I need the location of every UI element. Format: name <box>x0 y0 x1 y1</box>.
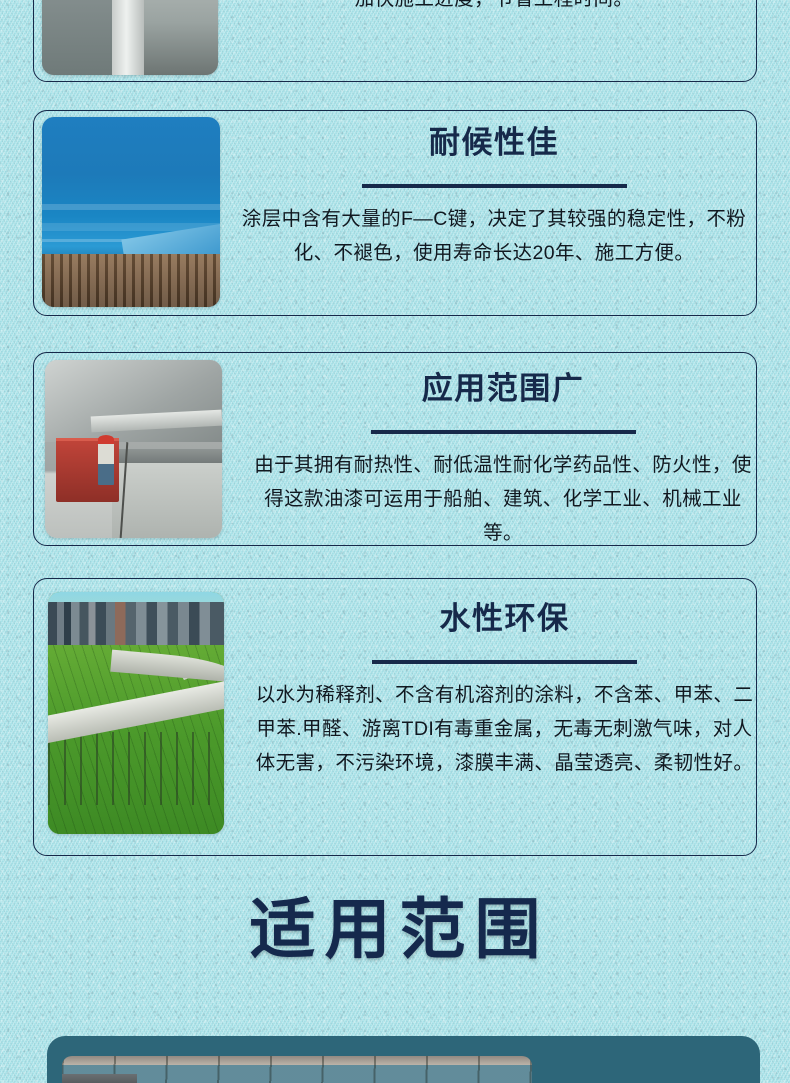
feature-image-blue-sky-bridge <box>42 117 220 307</box>
feature-title: 应用范围广 <box>250 370 756 409</box>
feature-title: 水性环保 <box>253 600 756 639</box>
title-divider <box>371 430 636 434</box>
feature-image-city-model-highway <box>48 592 224 834</box>
title-divider <box>372 660 637 664</box>
title-divider <box>362 184 627 188</box>
feature-image-blue-bridge-girder <box>42 0 218 75</box>
feature-image-worker-spraying <box>45 360 222 538</box>
feature-card-weather-resistance-content: 耐候性佳 涂层中含有大量的F—C键，决定了其较强的稳定性，不粉化、不褪色，使用寿… <box>232 124 756 270</box>
section-heading-scope-of-application: 适用范围 <box>0 896 790 962</box>
blue-sky-bridge-construction-photo <box>42 117 220 307</box>
product-detail-page: 加快施工进度，节省工程时间。 耐候性佳 涂层中含有大量的F—C键，决定了其较强的… <box>0 0 790 1083</box>
bottom-panel-image <box>62 1056 532 1083</box>
feature-card-construction-speed-body: 加快施工进度，节省工程时间。 <box>232 0 756 16</box>
feature-body: 以水为稀释剂、不含有机溶剂的涂料，不含苯、甲苯、二甲苯.甲醛、游离TDI有毒重金… <box>253 678 756 780</box>
feature-body: 涂层中含有大量的F—C键，决定了其较强的稳定性，不粉化、不褪色，使用寿命长达20… <box>232 202 756 270</box>
feature-card-application-range-content: 应用范围广 由于其拥有耐热性、耐低温性耐化学药品性、防火性，使得这款油漆可运用于… <box>250 370 756 550</box>
worker-spraying-bridge-underside-photo <box>45 360 222 538</box>
feature-card-water-based-eco-content: 水性环保 以水为稀释剂、不含有机溶剂的涂料，不含苯、甲苯、二甲苯.甲醛、游离TD… <box>253 600 756 780</box>
blue-bridge-girder-photo <box>42 0 218 75</box>
feature-title: 耐候性佳 <box>232 124 756 163</box>
city-model-elevated-highway-photo <box>48 592 224 834</box>
feature-body: 由于其拥有耐热性、耐低温性耐化学药品性、防火性，使得这款油漆可运用于船舶、建筑、… <box>250 448 756 550</box>
